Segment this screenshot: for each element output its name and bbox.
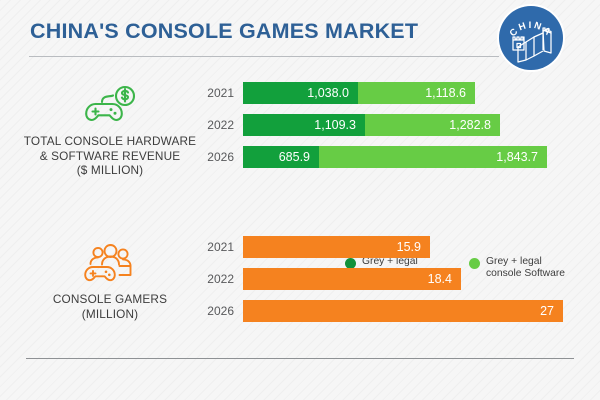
bar-gamers: 27 <box>243 300 563 322</box>
bar-gamers: 18.4 <box>243 268 461 290</box>
bar-year-label: 2026 <box>198 302 234 320</box>
bar-year-label: 2022 <box>198 116 234 134</box>
table-row: 2022 1,109.3 1,282.8 <box>198 114 588 136</box>
bar-segment-hardware: 685.9 <box>243 146 319 168</box>
footer-divider <box>26 358 574 359</box>
revenue-label-line-3: ($ MILLION) <box>10 163 210 178</box>
section-gamers: CONSOLE GAMERS (MILLION) 2021 15.9 2022 … <box>0 228 600 338</box>
gamepad-dollar-icon <box>10 84 210 128</box>
bar-year-label: 2021 <box>198 84 234 102</box>
section-revenue: TOTAL CONSOLE HARDWARE & SOFTWARE REVENU… <box>0 70 600 215</box>
gamers-label-line-2: (MILLION) <box>10 307 210 322</box>
page-title: CHINA'S CONSOLE GAMES MARKET <box>30 19 418 44</box>
table-row: 2026 27 <box>198 300 588 322</box>
title-divider <box>29 56 499 57</box>
china-logo-badge: CHINA <box>499 6 563 70</box>
bar-year-label: 2022 <box>198 270 234 288</box>
revenue-category: TOTAL CONSOLE HARDWARE & SOFTWARE REVENU… <box>10 84 210 178</box>
bar-year-label: 2026 <box>198 148 234 166</box>
table-row: 2026 685.9 1,843.7 <box>198 146 588 168</box>
stacked-bar: 1,038.0 1,118.6 <box>243 82 475 104</box>
gamers-label: CONSOLE GAMERS (MILLION) <box>10 292 210 321</box>
bar-segment-hardware: 1,109.3 <box>243 114 365 136</box>
bar-group: 15.9 <box>243 236 430 258</box>
great-wall-icon: CHINA <box>499 6 563 70</box>
revenue-label-line-1: TOTAL CONSOLE HARDWARE <box>10 134 210 149</box>
gamers-group-icon <box>10 242 210 286</box>
bar-gamers: 15.9 <box>243 236 430 258</box>
infographic-page: CHINA'S CONSOLE GAMES MARKET CHINA <box>0 0 600 400</box>
revenue-bar-chart: 2021 1,038.0 1,118.6 2022 1,109.3 1,282.… <box>198 82 588 178</box>
gamers-bar-chart: 2021 15.9 2022 18.4 2026 27 <box>198 236 588 332</box>
bar-segment-software: 1,282.8 <box>365 114 500 136</box>
bar-group: 18.4 <box>243 268 461 290</box>
bar-segment-software: 1,118.6 <box>358 82 475 104</box>
table-row: 2022 18.4 <box>198 268 588 290</box>
bar-segment-software: 1,843.7 <box>319 146 547 168</box>
revenue-label-line-2: & SOFTWARE REVENUE <box>10 149 210 164</box>
bar-group: 27 <box>243 300 563 322</box>
gamers-category: CONSOLE GAMERS (MILLION) <box>10 242 210 321</box>
header: CHINA'S CONSOLE GAMES MARKET CHINA <box>0 0 600 68</box>
stacked-bar: 1,109.3 1,282.8 <box>243 114 500 136</box>
gamers-label-line-1: CONSOLE GAMERS <box>10 292 210 307</box>
bar-segment-hardware: 1,038.0 <box>243 82 358 104</box>
stacked-bar: 685.9 1,843.7 <box>243 146 547 168</box>
revenue-label: TOTAL CONSOLE HARDWARE & SOFTWARE REVENU… <box>10 134 210 178</box>
table-row: 2021 15.9 <box>198 236 588 258</box>
table-row: 2021 1,038.0 1,118.6 <box>198 82 588 104</box>
bar-year-label: 2021 <box>198 238 234 256</box>
